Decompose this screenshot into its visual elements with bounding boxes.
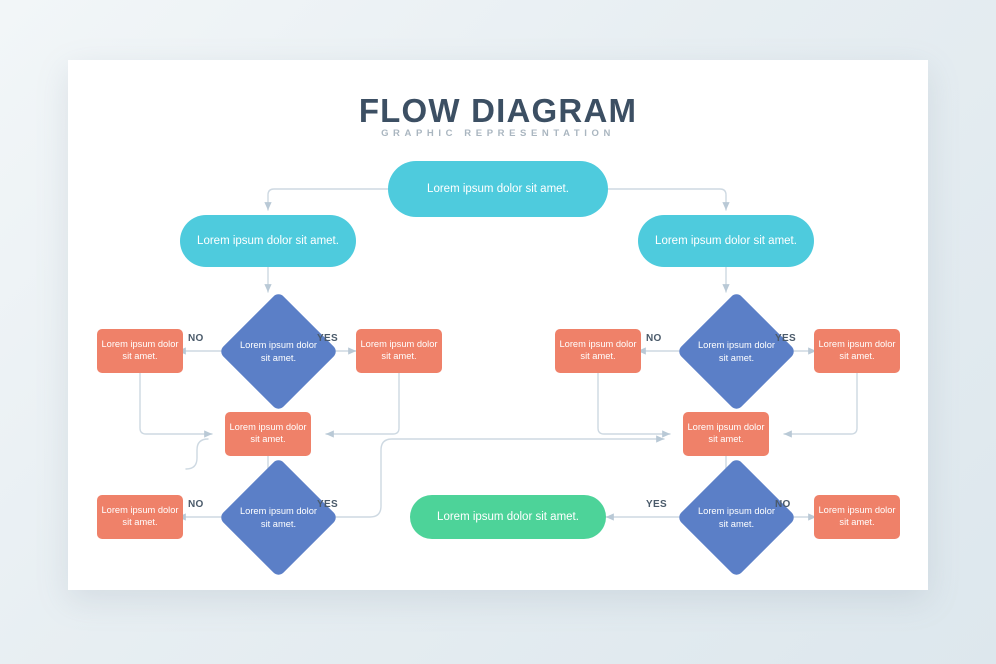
edge-boxr1yes-to-merge	[784, 373, 857, 434]
node-merge-left[interactable]: Lorem ipsum dolor sit amet.	[225, 412, 311, 456]
node-box-right1-no-label: Lorem ipsum dolor sit amet.	[559, 339, 637, 363]
edge-start-to-left	[268, 189, 388, 210]
edge-label-right1-no: NO	[646, 333, 662, 344]
edge-decorative-left-hook	[186, 439, 208, 469]
node-level1-right[interactable]: Lorem ipsum dolor sit amet.	[638, 215, 814, 267]
node-box-right2-no-label: Lorem ipsum dolor sit amet.	[818, 505, 896, 529]
edge-start-to-right	[608, 189, 726, 210]
node-box-left2-no-label: Lorem ipsum dolor sit amet.	[101, 505, 179, 529]
node-decision-right-1[interactable]: Lorem ipsum dolor sit amet.	[694, 309, 779, 394]
node-box-right1-yes-label: Lorem ipsum dolor sit amet.	[818, 339, 896, 363]
edge-label-right1-yes: YES	[775, 333, 796, 344]
node-start-label: Lorem ipsum dolor sit amet.	[427, 182, 569, 197]
diagram-card: FLOW DIAGRAM GRAPHIC REPRESENTATION	[68, 60, 928, 590]
node-decision-left-2[interactable]: Lorem ipsum dolor sit amet.	[236, 475, 321, 560]
node-level1-left[interactable]: Lorem ipsum dolor sit amet.	[180, 215, 356, 267]
edge-boxl1no-to-merge	[140, 373, 212, 434]
node-box-right1-no[interactable]: Lorem ipsum dolor sit amet.	[555, 329, 641, 373]
node-end[interactable]: Lorem ipsum dolor sit amet.	[410, 495, 606, 539]
node-box-right1-yes[interactable]: Lorem ipsum dolor sit amet.	[814, 329, 900, 373]
node-box-right2-no[interactable]: Lorem ipsum dolor sit amet.	[814, 495, 900, 539]
node-level1-right-label: Lorem ipsum dolor sit amet.	[655, 234, 797, 249]
node-decision-right-2-label: Lorem ipsum dolor sit amet.	[694, 475, 779, 560]
node-decision-left-2-label: Lorem ipsum dolor sit amet.	[236, 475, 321, 560]
edge-boxl1yes-to-merge	[326, 373, 399, 434]
edge-boxr1no-to-merge	[598, 373, 670, 434]
page-background: FLOW DIAGRAM GRAPHIC REPRESENTATION	[0, 0, 996, 664]
node-decision-right-1-label: Lorem ipsum dolor sit amet.	[694, 309, 779, 394]
node-box-left2-no[interactable]: Lorem ipsum dolor sit amet.	[97, 495, 183, 539]
node-decision-right-2[interactable]: Lorem ipsum dolor sit amet.	[694, 475, 779, 560]
node-decision-left-1[interactable]: Lorem ipsum dolor sit amet.	[236, 309, 321, 394]
node-merge-left-label: Lorem ipsum dolor sit amet.	[229, 422, 307, 446]
node-merge-right[interactable]: Lorem ipsum dolor sit amet.	[683, 412, 769, 456]
node-decision-left-1-label: Lorem ipsum dolor sit amet.	[236, 309, 321, 394]
node-box-left1-no[interactable]: Lorem ipsum dolor sit amet.	[97, 329, 183, 373]
node-box-left1-no-label: Lorem ipsum dolor sit amet.	[101, 339, 179, 363]
node-end-label: Lorem ipsum dolor sit amet.	[437, 510, 579, 525]
node-box-left1-yes[interactable]: Lorem ipsum dolor sit amet.	[356, 329, 442, 373]
node-box-left1-yes-label: Lorem ipsum dolor sit amet.	[360, 339, 438, 363]
node-start[interactable]: Lorem ipsum dolor sit amet.	[388, 161, 608, 217]
edge-label-right2-yes: YES	[646, 499, 667, 510]
edge-label-left1-yes: YES	[317, 333, 338, 344]
edge-label-right2-no: NO	[775, 499, 791, 510]
edge-label-left2-no: NO	[188, 499, 204, 510]
node-merge-right-label: Lorem ipsum dolor sit amet.	[687, 422, 765, 446]
edge-label-left1-no: NO	[188, 333, 204, 344]
edge-label-left2-yes: YES	[317, 499, 338, 510]
node-level1-left-label: Lorem ipsum dolor sit amet.	[197, 234, 339, 249]
